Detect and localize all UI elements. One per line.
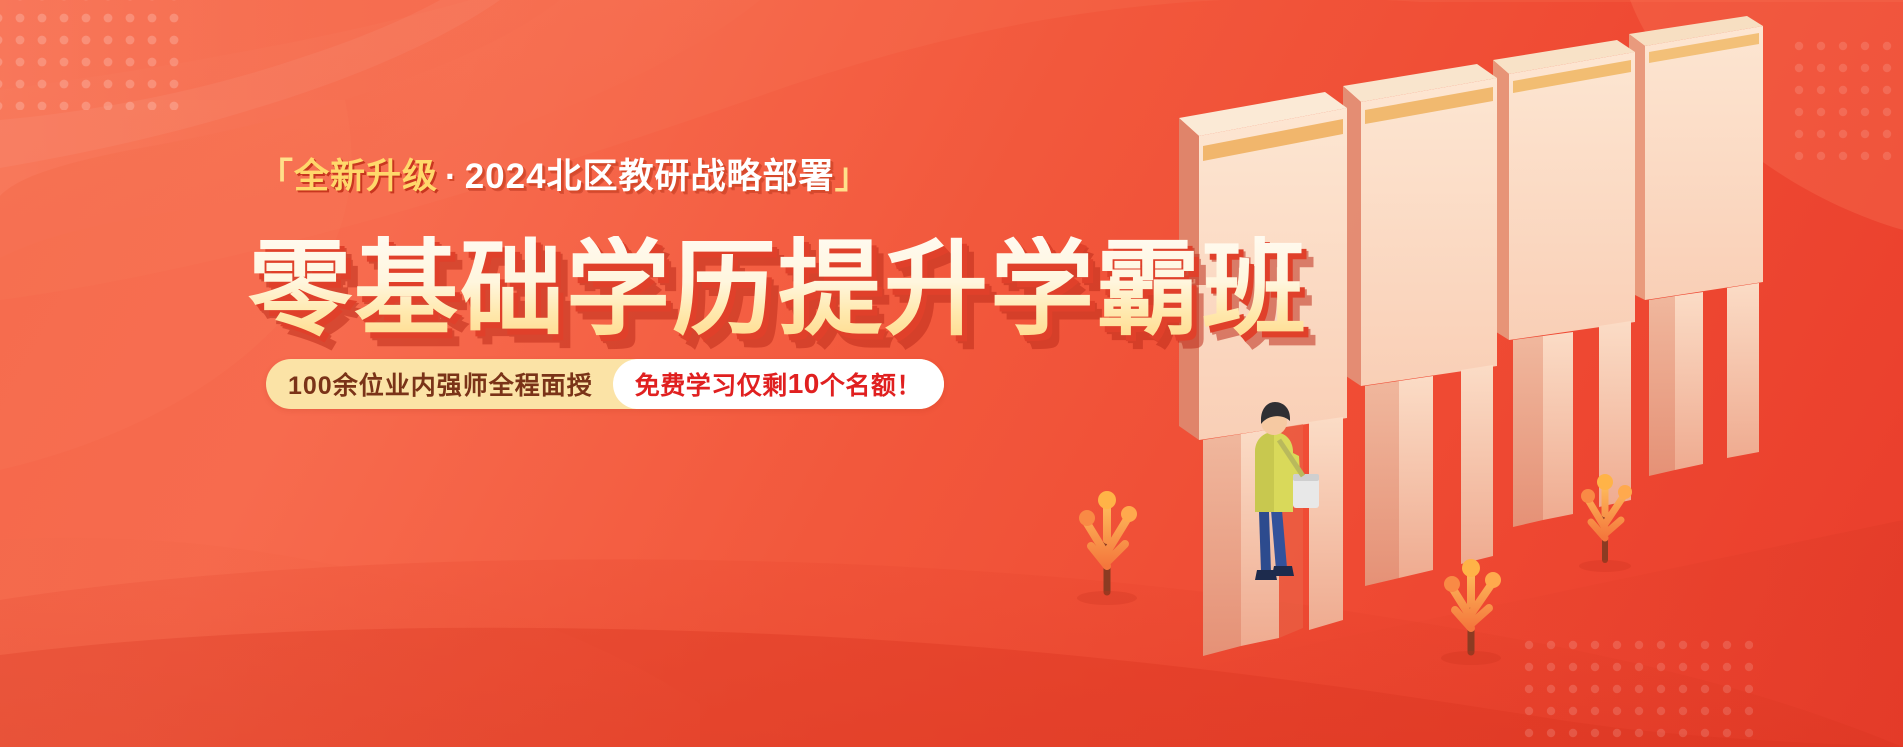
subtitle-highlight: 全新升级 bbox=[294, 157, 438, 196]
highlight-pill: 100余位业内强师全程面授 免费学习仅剩10个名额！ bbox=[266, 359, 944, 409]
pill-right-suffix: 个名额！ bbox=[820, 366, 922, 402]
page-title: 零基础学历提升学霸班 bbox=[248, 236, 1308, 345]
subtitle-rest: 2024北区教研战略部署 bbox=[465, 157, 835, 196]
tree-right bbox=[1579, 474, 1632, 572]
pill-seats-remaining: 10 bbox=[788, 368, 820, 400]
arch-3 bbox=[1493, 40, 1635, 527]
banner-text-block: 「全新升级·2024北区教研战略部署」 零基础学历提升学霸班 100余位业内强师… bbox=[0, 0, 1100, 747]
promo-banner: 「全新升级·2024北区教研战略部署」 零基础学历提升学霸班 100余位业内强师… bbox=[0, 0, 1903, 747]
pill-right-badge: 免费学习仅剩10个名额！ bbox=[613, 359, 944, 409]
banner-subtitle: 「全新升级·2024北区教研战略部署」 bbox=[258, 159, 871, 194]
arch-2 bbox=[1343, 64, 1497, 586]
subtitle-separator: · bbox=[445, 157, 458, 196]
subtitle-open-bracket: 「 bbox=[258, 157, 294, 196]
subtitle-close-bracket: 」 bbox=[835, 157, 871, 196]
arch-4 bbox=[1629, 16, 1763, 476]
pill-right-prefix: 免费学习仅剩 bbox=[635, 366, 788, 402]
pill-left-text: 100余位业内强师全程面授 bbox=[288, 366, 613, 402]
banner-illustration bbox=[1003, 0, 1903, 747]
